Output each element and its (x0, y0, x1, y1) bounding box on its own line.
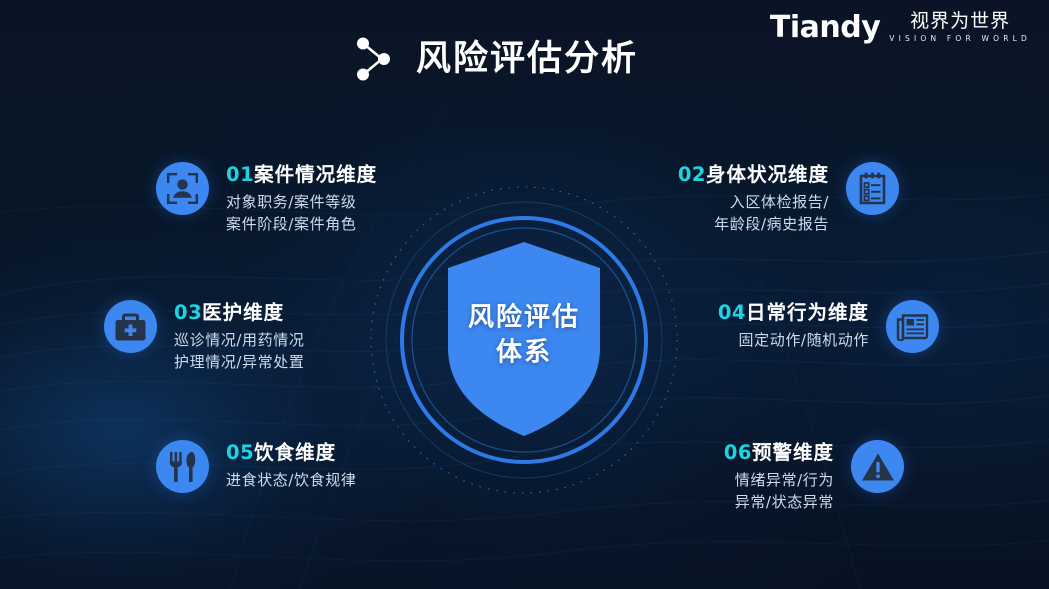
dimension-item-01-head: 01案件情况维度 (226, 164, 377, 185)
dimension-item-05-head: 05饮食维度 (226, 442, 336, 463)
dimension-item-05-desc: 进食状态/饮食规律 (226, 470, 356, 491)
dimension-item-02[interactable]: 02身体状况维度 入区体检报告/ 年龄段/病史报告 (678, 162, 899, 235)
dimension-item-04[interactable]: 04日常行为维度 固定动作/随机动作 (718, 300, 939, 353)
center-label: 风险评估 体系 (364, 301, 684, 372)
page-title: 风险评估分析 (416, 42, 638, 77)
dimension-item-01-text: 01案件情况维度 对象职务/案件等级 案件阶段/案件角色 (226, 162, 377, 235)
center-label-line2: 体系 (364, 336, 684, 371)
logo-brand-cn-group: 视界为世界 VISION FOR WORLD (889, 12, 1031, 43)
dimension-item-02-number: 02 (678, 163, 706, 186)
dimension-item-06-desc: 情绪异常/行为 异常/状态异常 (735, 470, 834, 513)
newspaper-icon (886, 300, 939, 353)
logo-brand-en: Tiandy (770, 13, 880, 43)
dimension-item-03-title: 医护维度 (202, 301, 284, 324)
dimension-item-05[interactable]: 05饮食维度 进食状态/饮食规律 (156, 440, 356, 493)
desc-line: 情绪异常/行为 (735, 470, 834, 491)
dimension-item-04-head: 04日常行为维度 (718, 302, 869, 323)
face-detect-icon (156, 162, 209, 215)
dimension-item-01-title: 案件情况维度 (254, 163, 377, 186)
dimension-item-06[interactable]: 06预警维度 情绪异常/行为 异常/状态异常 (724, 440, 904, 513)
dimension-item-02-desc: 入区体检报告/ 年龄段/病史报告 (714, 192, 829, 235)
center-label-line1: 风险评估 (364, 301, 684, 336)
dimension-item-03-number: 03 (174, 301, 202, 324)
dimension-item-05-text: 05饮食维度 进食状态/饮食规律 (226, 440, 356, 492)
dimension-item-04-title: 日常行为维度 (746, 301, 869, 324)
clipboard-checklist-icon (846, 162, 899, 215)
desc-line: 进食状态/饮食规律 (226, 470, 356, 491)
logo-brand-cn: 视界为世界 (910, 12, 1010, 32)
dimension-item-06-head: 06预警维度 (724, 442, 834, 463)
brand-logo: Tiandy 视界为世界 VISION FOR WORLD (770, 12, 1031, 43)
dimension-item-02-text: 02身体状况维度 入区体检报告/ 年龄段/病史报告 (678, 162, 829, 235)
desc-line: 案件阶段/案件角色 (226, 214, 356, 235)
desc-line: 入区体检报告/ (714, 192, 829, 213)
desc-line: 固定动作/随机动作 (739, 330, 869, 351)
slide-header: 风险评估分析 Tiandy 视界为世界 VISION FOR WORLD (0, 0, 1049, 112)
dimension-item-04-number: 04 (718, 301, 746, 324)
desc-line: 异常/状态异常 (735, 492, 834, 513)
desc-line: 巡诊情况/用药情况 (174, 330, 304, 351)
dimension-item-06-text: 06预警维度 情绪异常/行为 异常/状态异常 (724, 440, 834, 513)
dimension-item-04-text: 04日常行为维度 固定动作/随机动作 (718, 300, 869, 352)
dimension-item-03-text: 03医护维度 巡诊情况/用药情况 护理情况/异常处置 (174, 300, 304, 373)
dimension-item-01-number: 01 (226, 163, 254, 186)
dimension-item-06-title: 预警维度 (752, 441, 834, 464)
dimension-item-03[interactable]: 03医护维度 巡诊情况/用药情况 护理情况/异常处置 (104, 300, 304, 373)
share-node-icon (352, 34, 394, 84)
dimension-item-06-number: 06 (724, 441, 752, 464)
dimension-item-01[interactable]: 01案件情况维度 对象职务/案件等级 案件阶段/案件角色 (156, 162, 377, 235)
title-group: 风险评估分析 (352, 34, 638, 84)
fork-knife-icon (156, 440, 209, 493)
dimension-item-02-title: 身体状况维度 (706, 163, 829, 186)
logo-tagline: VISION FOR WORLD (889, 35, 1031, 43)
desc-line: 年龄段/病史报告 (714, 214, 829, 235)
dimension-item-05-title: 饮食维度 (254, 441, 336, 464)
desc-line: 对象职务/案件等级 (226, 192, 356, 213)
dimension-item-04-desc: 固定动作/随机动作 (739, 330, 869, 351)
desc-line: 护理情况/异常处置 (174, 352, 304, 373)
center-shield-group: 风险评估 体系 (364, 180, 684, 500)
dimension-item-03-desc: 巡诊情况/用药情况 护理情况/异常处置 (174, 330, 304, 373)
dimension-item-05-number: 05 (226, 441, 254, 464)
medical-kit-icon (104, 300, 157, 353)
slide-canvas: 风险评估分析 Tiandy 视界为世界 VISION FOR WORLD 风险评… (0, 0, 1049, 589)
dimension-item-02-head: 02身体状况维度 (678, 164, 829, 185)
dimension-item-03-head: 03医护维度 (174, 302, 284, 323)
warning-triangle-icon (851, 440, 904, 493)
dimension-item-01-desc: 对象职务/案件等级 案件阶段/案件角色 (226, 192, 356, 235)
